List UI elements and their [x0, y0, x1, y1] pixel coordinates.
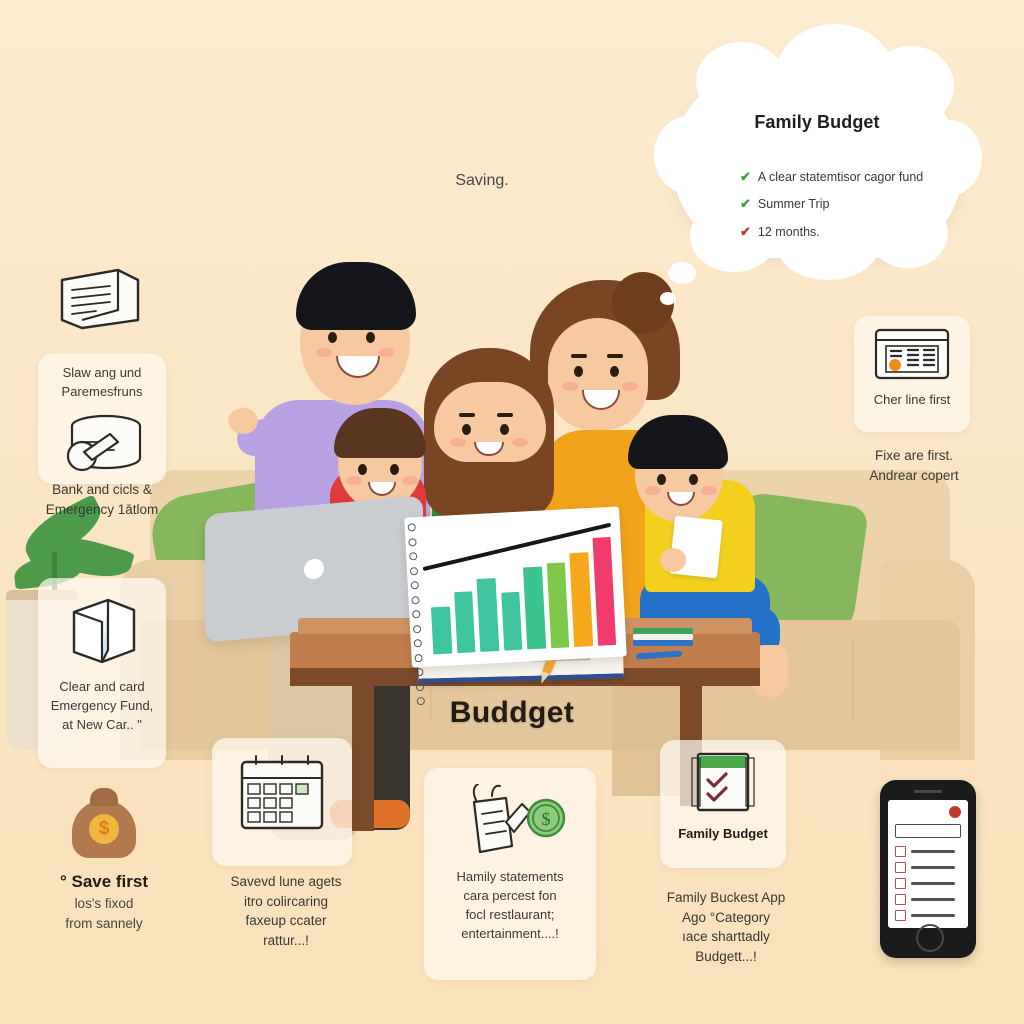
caption-bank-emergency: Bank and cicls & Emergency 1ātlom — [22, 480, 182, 519]
card-caption-line: Paremesfruns — [44, 383, 160, 402]
open-book-icon — [58, 592, 146, 672]
bubble-item-label: 12 months. — [758, 225, 820, 239]
phone-checklist-row[interactable] — [895, 910, 955, 921]
eyebrow — [607, 354, 623, 358]
caption-line: ıace sharttadly — [638, 927, 814, 947]
cheek — [402, 476, 418, 485]
chart-bar — [454, 591, 476, 653]
bank-note-pen-icon — [56, 410, 148, 478]
card-newspaper[interactable]: Cher line first — [854, 316, 970, 432]
caption-line: faxeup ccater — [196, 911, 376, 931]
eyebrow — [459, 413, 475, 417]
thought-tail-large — [668, 262, 696, 284]
caption-line: Andrear copert — [844, 466, 984, 486]
bubble-checklist: ✔A clear statemtisor cagor fund✔Summer T… — [700, 170, 944, 252]
caption-calendar: Savevd lune agets itro colircaring faxeu… — [196, 872, 376, 950]
card-caption-line: Slaw ang und — [44, 364, 160, 383]
card-caption-line: at New Car.. " — [42, 716, 162, 735]
eye — [689, 474, 698, 485]
caption-newspaper: Fixe are first. Andrear copert — [844, 446, 984, 485]
bubble-item-label: A clear statemtisor cagor fund — [758, 170, 923, 184]
eye — [462, 424, 471, 435]
phone-checklist-row[interactable] — [895, 846, 955, 857]
clipboard-check-icon — [684, 748, 762, 816]
mother-head — [548, 318, 648, 430]
home-button[interactable] — [916, 924, 944, 952]
chart-bar — [501, 592, 523, 651]
calendar-icon — [234, 752, 330, 836]
card-caption-line: Emergency Fund, — [42, 697, 162, 716]
phone-row-line — [911, 882, 955, 884]
check-icon: ✔ — [740, 197, 751, 210]
chart-bar — [569, 553, 592, 647]
spiral-rings — [408, 523, 423, 661]
checkbox-icon[interactable] — [895, 862, 906, 873]
documents-stack-icon — [48, 258, 144, 334]
bubble-list-item: ✔Summer Trip — [740, 197, 944, 211]
receipt-coin-icon: $ — [448, 784, 568, 862]
thought-tail-small — [660, 292, 676, 305]
cheek — [645, 486, 661, 495]
cheek — [562, 382, 578, 391]
thought-bubble: Family Budget ✔A clear statemtisor cagor… — [672, 68, 962, 258]
girl-head — [434, 382, 546, 462]
illustration-canvas: Buddget Saving. Family Budget ✔A clear s… — [0, 0, 1024, 1024]
caption-line: Savevd lune agets — [196, 872, 376, 892]
caption-line: Ago °Category — [638, 908, 814, 928]
card-save-first[interactable]: ° Save first los's fixod from sannely — [16, 872, 192, 935]
caption-line: los's fixod — [16, 894, 192, 914]
eye — [328, 332, 337, 343]
book-stack-icon — [633, 628, 693, 648]
eyebrow — [497, 413, 513, 417]
bubble-lobe — [696, 42, 786, 120]
card-family-budget-app[interactable]: Family Budget — [660, 740, 786, 868]
phone-checklist-row[interactable] — [895, 878, 955, 889]
cheek — [701, 486, 717, 495]
chart-bar — [546, 563, 569, 648]
card-receipt[interactable]: $ Hamily statements cara percest fon foc… — [424, 768, 596, 980]
eye — [358, 464, 367, 475]
checkbox-icon[interactable] — [895, 894, 906, 905]
father-hand — [228, 408, 258, 434]
cheek — [378, 348, 394, 357]
caption-line: rattur...! — [196, 931, 376, 951]
card-caption-line: focl restlaurant; — [430, 906, 590, 925]
eye — [366, 332, 375, 343]
mouth — [368, 482, 396, 496]
caption-line: Family Buckest App — [638, 888, 814, 908]
phone-title-field[interactable] — [895, 824, 961, 838]
phone-row-line — [911, 866, 955, 868]
svg-text:$: $ — [542, 809, 551, 829]
phone-row-line — [911, 850, 955, 852]
caption-line: from sannely — [16, 914, 192, 934]
eye — [390, 464, 399, 475]
card-calendar[interactable] — [212, 738, 352, 866]
phone-checklist-row[interactable] — [895, 862, 955, 873]
older-boy-hand — [660, 548, 686, 572]
card-caption-line: Clear and card — [42, 678, 162, 697]
bubble-item-label: Summer Trip — [758, 197, 830, 211]
cheek — [450, 438, 466, 447]
check-icon: ✔ — [740, 225, 751, 238]
cheek — [316, 348, 332, 357]
caption-family-budget-app: Family Buckest App Ago °Category ıace sh… — [638, 888, 814, 966]
checkbox-icon[interactable] — [895, 878, 906, 889]
newspaper-icon — [868, 324, 956, 386]
chart-bar — [523, 566, 546, 649]
caption-line: itro colircaring — [196, 892, 376, 912]
card-caption-line: Hamily statements — [430, 868, 590, 887]
bubble-list-item: ✔12 months. — [740, 225, 944, 239]
mouth — [474, 442, 504, 456]
money-bag-icon: $ — [72, 800, 136, 858]
chart-bars — [428, 537, 616, 654]
eye — [574, 366, 583, 377]
bubble-title: Family Budget — [672, 112, 962, 133]
chart-bar — [592, 537, 616, 646]
caption-line: Fixe are first. — [844, 446, 984, 466]
chart-bar — [477, 578, 499, 652]
cheek — [622, 382, 638, 391]
smartphone[interactable] — [880, 780, 976, 958]
check-icon: ✔ — [740, 170, 751, 183]
notification-badge — [949, 806, 961, 818]
eye — [500, 424, 509, 435]
cheek — [512, 438, 528, 447]
father-hair — [296, 262, 416, 330]
older-boy-hair — [628, 415, 728, 469]
save-first-heading: ° Save first — [16, 872, 192, 892]
checkbox-icon[interactable] — [895, 910, 906, 921]
phone-screen[interactable] — [888, 800, 968, 928]
mouth — [582, 390, 620, 410]
cheek — [346, 476, 362, 485]
bar-chart-sheet — [404, 506, 627, 667]
card-heading: Family Budget — [660, 826, 786, 841]
phone-checklist-row[interactable] — [895, 894, 955, 905]
eyebrow — [571, 354, 587, 358]
mouth — [667, 492, 695, 506]
caption-line: Bank and cicls & — [22, 480, 182, 500]
phone-speaker — [914, 790, 942, 793]
phone-row-line — [911, 914, 955, 916]
caption-line: Emergency 1ātlom — [22, 500, 182, 520]
card-slaw-ang-und[interactable]: Slaw ang und Paremesfruns — [38, 354, 166, 484]
caption-line: Budgett...! — [638, 947, 814, 967]
dollar-coin: $ — [89, 814, 119, 844]
card-emergency-fund[interactable]: Clear and card Emergency Fund, at New Ca… — [38, 578, 166, 768]
phone-row-line — [911, 898, 955, 900]
eye — [610, 366, 619, 377]
bubble-list-item: ✔A clear statemtisor cagor fund — [740, 170, 944, 184]
saving-label: Saving. — [392, 172, 572, 190]
card-caption-line: cara percest fon — [430, 887, 590, 906]
checkbox-icon[interactable] — [895, 846, 906, 857]
card-heading: Cher line first — [854, 392, 970, 407]
eye — [657, 474, 666, 485]
laptop-logo — [304, 558, 324, 580]
mouth — [336, 356, 380, 378]
chart-bar — [431, 607, 452, 655]
card-caption-line: entertainment....! — [430, 925, 590, 944]
